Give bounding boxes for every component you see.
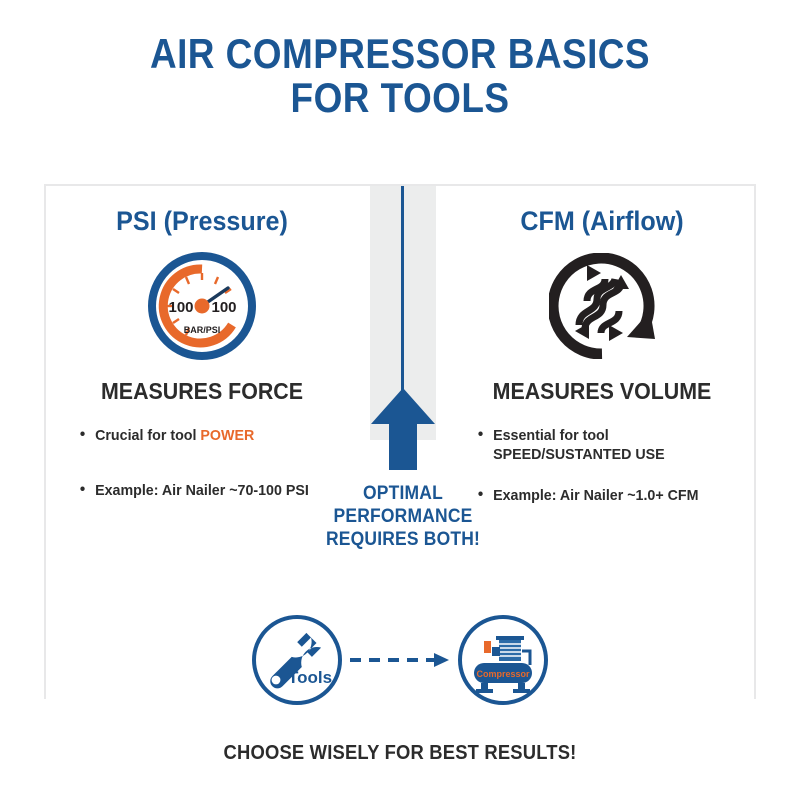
bullet-text-line-2: SPEED/SUSTANTED USE — [493, 445, 738, 464]
up-arrow-icon — [371, 388, 435, 470]
center-caption-line-3: REQUIRES BOTH! — [319, 528, 486, 551]
dashed-arrow-icon — [350, 651, 452, 669]
gauge-right-value: 100 — [211, 299, 236, 316]
page-title: AIR COMPRESSOR BASICS FOR TOOLS — [48, 32, 752, 120]
column-psi-bullets: Crucial for tool POWER Example: Air Nail… — [78, 426, 352, 500]
column-cfm: CFM (Airflow) — [452, 206, 752, 531]
column-psi: PSI (Pressure) 100 100 — [52, 206, 352, 526]
column-cfm-heading: CFM (Airflow) — [463, 206, 742, 236]
gauge-left-value: 100 — [168, 299, 193, 316]
footer-caption: CHOOSE WISELY FOR BEST RESULTS! — [32, 742, 768, 765]
list-item: Example: Air Nailer ~1.0+ CFM — [476, 486, 738, 505]
column-cfm-bullets: Essential for tool SPEED/SUSTANTED USE E… — [476, 426, 752, 505]
list-item: Example: Air Nailer ~70-100 PSI — [78, 481, 338, 500]
bullet-text-line-1: Essential for tool — [493, 427, 609, 444]
bullet-text: Crucial for tool — [95, 427, 200, 444]
page-title-line-1: AIR COMPRESSOR BASICS — [48, 32, 752, 76]
gauge-unit-label: BAR/PSI — [184, 325, 221, 335]
bullet-text-line-1: Example: Air Nailer ~1.0+ CFM — [493, 487, 698, 504]
compressor-tank-label: Compressor — [476, 669, 530, 679]
compressor-circle: Compressor — [456, 613, 550, 707]
tools-circle: Tools — [250, 613, 344, 707]
list-item: Essential for tool SPEED/SUSTANTED USE — [476, 426, 738, 464]
column-psi-subheading: MEASURES FORCE — [63, 378, 342, 404]
page-title-line-2: FOR TOOLS — [48, 76, 752, 120]
list-item: Crucial for tool POWER — [78, 426, 338, 445]
column-cfm-subheading: MEASURES VOLUME — [463, 378, 742, 404]
bottom-icon-row: Tools — [250, 613, 550, 707]
center-divider-line — [401, 186, 404, 398]
airflow-circulation-icon — [452, 250, 752, 362]
tools-label: Tools — [288, 668, 332, 687]
bullet-text: Example: Air Nailer ~70-100 PSI — [95, 482, 309, 499]
bullet-highlight: POWER — [200, 427, 254, 444]
pressure-gauge-icon: 100 100 BAR/PSI — [52, 250, 352, 362]
infographic-page: AIR COMPRESSOR BASICS FOR TOOLS OPTIMAL … — [0, 0, 800, 800]
column-psi-heading: PSI (Pressure) — [63, 206, 342, 236]
